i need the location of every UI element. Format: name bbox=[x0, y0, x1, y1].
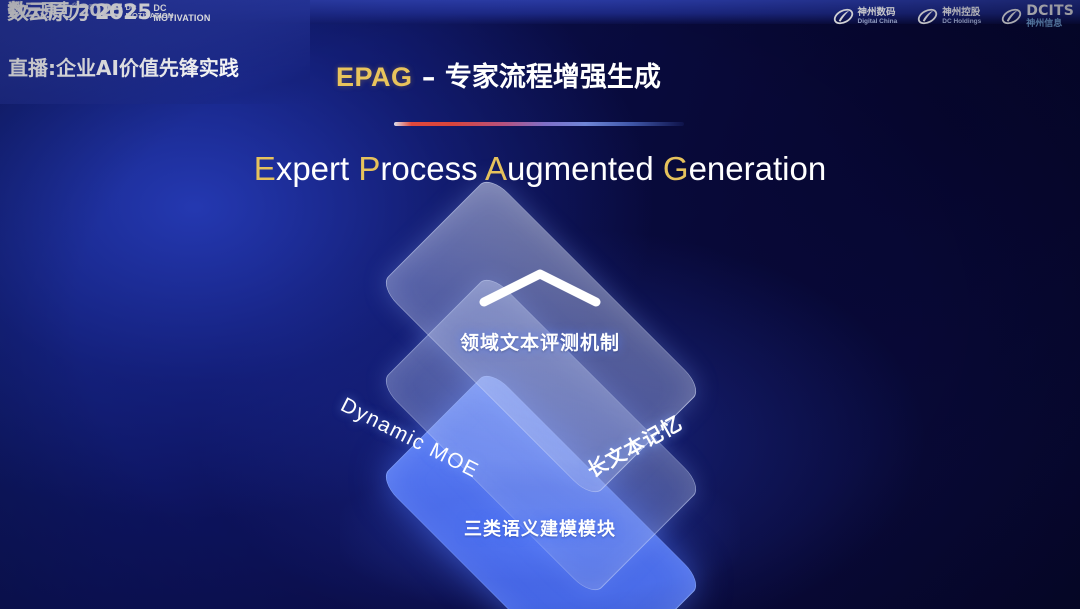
brand-name-cn: 数云原力 bbox=[7, 2, 72, 20]
brand-dc-bottom: MOTIVATION bbox=[126, 12, 174, 20]
presentation-slide: 数云原力 ® 2025 DC MOTIVATION 直播:企业AI价值先锋实践 … bbox=[0, 0, 1080, 609]
brand-wordmark-bottom-right: 数云原力 ® 2025 DC MOTIVATION bbox=[8, 2, 1070, 603]
brand-registered-mark: ® bbox=[72, 2, 77, 11]
brand-year: 2025 bbox=[78, 2, 123, 20]
brand-dc-motivation: DC MOTIVATION bbox=[126, 2, 174, 20]
